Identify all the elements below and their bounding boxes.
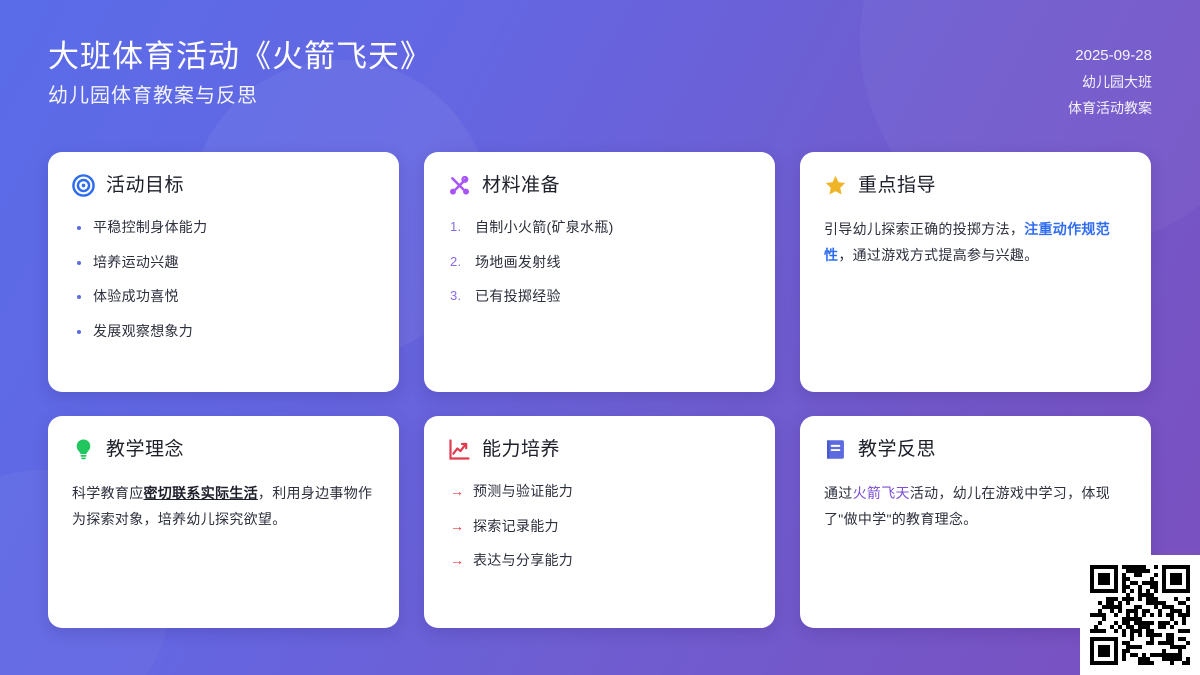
chart-icon: [448, 438, 471, 461]
text-before: 通过: [824, 485, 853, 501]
card-title: 活动目标: [106, 176, 184, 195]
list-item: 预测与验证能力: [448, 481, 751, 503]
card-header: 教学理念: [72, 438, 375, 461]
bulb-icon: [72, 438, 95, 461]
page-subtitle: 幼儿园体育教案与反思: [48, 83, 432, 109]
card-header: 教学反思: [824, 438, 1127, 461]
list-item: 已有投掷经验: [448, 286, 751, 308]
header-meta: 2025-09-28 幼儿园大班 体育活动教案: [1068, 42, 1152, 122]
card-header: 重点指导: [824, 174, 1127, 197]
highlight-text: 密切联系实际生活: [144, 485, 258, 501]
page-title: 大班体育活动《火箭飞天》: [48, 38, 432, 77]
slide-header: 大班体育活动《火箭飞天》 幼儿园体育教案与反思 2025-09-28 幼儿园大班…: [0, 0, 1200, 140]
list-item: 平稳控制身体能力: [72, 217, 375, 239]
text-before: 科学教育应: [72, 485, 144, 501]
card-header: 活动目标: [72, 174, 375, 197]
card-activity-goals[interactable]: 活动目标 平稳控制身体能力 培养运动兴趣 体验成功喜悦 发展观察想象力: [48, 152, 399, 392]
card-title: 材料准备: [482, 176, 560, 195]
ability-list: 预测与验证能力 探索记录能力 表达与分享能力: [448, 481, 751, 572]
star-icon: [824, 174, 847, 197]
card-ability-development[interactable]: 能力培养 预测与验证能力 探索记录能力 表达与分享能力: [424, 416, 775, 628]
list-item: 发展观察想象力: [72, 321, 375, 343]
card-teaching-philosophy[interactable]: 教学理念 科学教育应密切联系实际生活，利用身边事物作为探索对象，培养幼儿探究欲望…: [48, 416, 399, 628]
material-list: 自制小火箭(矿泉水瓶) 场地画发射线 已有投掷经验: [448, 217, 751, 308]
card-title: 教学反思: [858, 440, 936, 459]
list-item: 表达与分享能力: [448, 550, 751, 572]
text-before: 引导幼儿探索正确的投掷方法，: [824, 221, 1024, 237]
philosophy-paragraph: 科学教育应密切联系实际生活，利用身边事物作为探索对象，培养幼儿探究欲望。: [72, 481, 375, 533]
list-item: 场地画发射线: [448, 252, 751, 274]
header-title-group: 大班体育活动《火箭飞天》 幼儿园体育教案与反思: [48, 38, 432, 109]
card-title: 能力培养: [482, 440, 560, 459]
card-grid: 活动目标 平稳控制身体能力 培养运动兴趣 体验成功喜悦 发展观察想象力: [48, 152, 1152, 628]
reflection-paragraph: 通过火箭飞天活动，幼儿在游戏中学习，体现了"做中学"的教育理念。: [824, 481, 1127, 533]
goal-list: 平稳控制身体能力 培养运动兴趣 体验成功喜悦 发展观察想象力: [72, 217, 375, 343]
slide-root: 大班体育活动《火箭飞天》 幼儿园体育教案与反思 2025-09-28 幼儿园大班…: [0, 0, 1200, 675]
card-title: 教学理念: [106, 440, 184, 459]
meta-grade: 幼儿园大班: [1068, 70, 1152, 96]
list-item: 自制小火箭(矿泉水瓶): [448, 217, 751, 239]
text-after: ，通过游戏方式提高参与兴趣。: [838, 247, 1038, 263]
list-item: 体验成功喜悦: [72, 286, 375, 308]
list-item: 培养运动兴趣: [72, 252, 375, 274]
meta-date: 2025-09-28: [1068, 42, 1152, 70]
card-header: 能力培养: [448, 438, 751, 461]
qr-code: [1090, 565, 1190, 665]
meta-category: 体育活动教案: [1068, 96, 1152, 122]
highlight-text: 火箭飞天: [853, 485, 910, 501]
tools-icon: [448, 174, 471, 197]
qr-code-container[interactable]: [1080, 555, 1200, 675]
book-icon: [824, 438, 847, 461]
card-material-prep[interactable]: 材料准备 自制小火箭(矿泉水瓶) 场地画发射线 已有投掷经验: [424, 152, 775, 392]
card-key-guidance[interactable]: 重点指导 引导幼儿探索正确的投掷方法，注重动作规范性，通过游戏方式提高参与兴趣。: [800, 152, 1151, 392]
target-icon: [72, 174, 95, 197]
card-header: 材料准备: [448, 174, 751, 197]
card-title: 重点指导: [858, 176, 936, 195]
list-item: 探索记录能力: [448, 516, 751, 538]
guidance-paragraph: 引导幼儿探索正确的投掷方法，注重动作规范性，通过游戏方式提高参与兴趣。: [824, 217, 1127, 269]
